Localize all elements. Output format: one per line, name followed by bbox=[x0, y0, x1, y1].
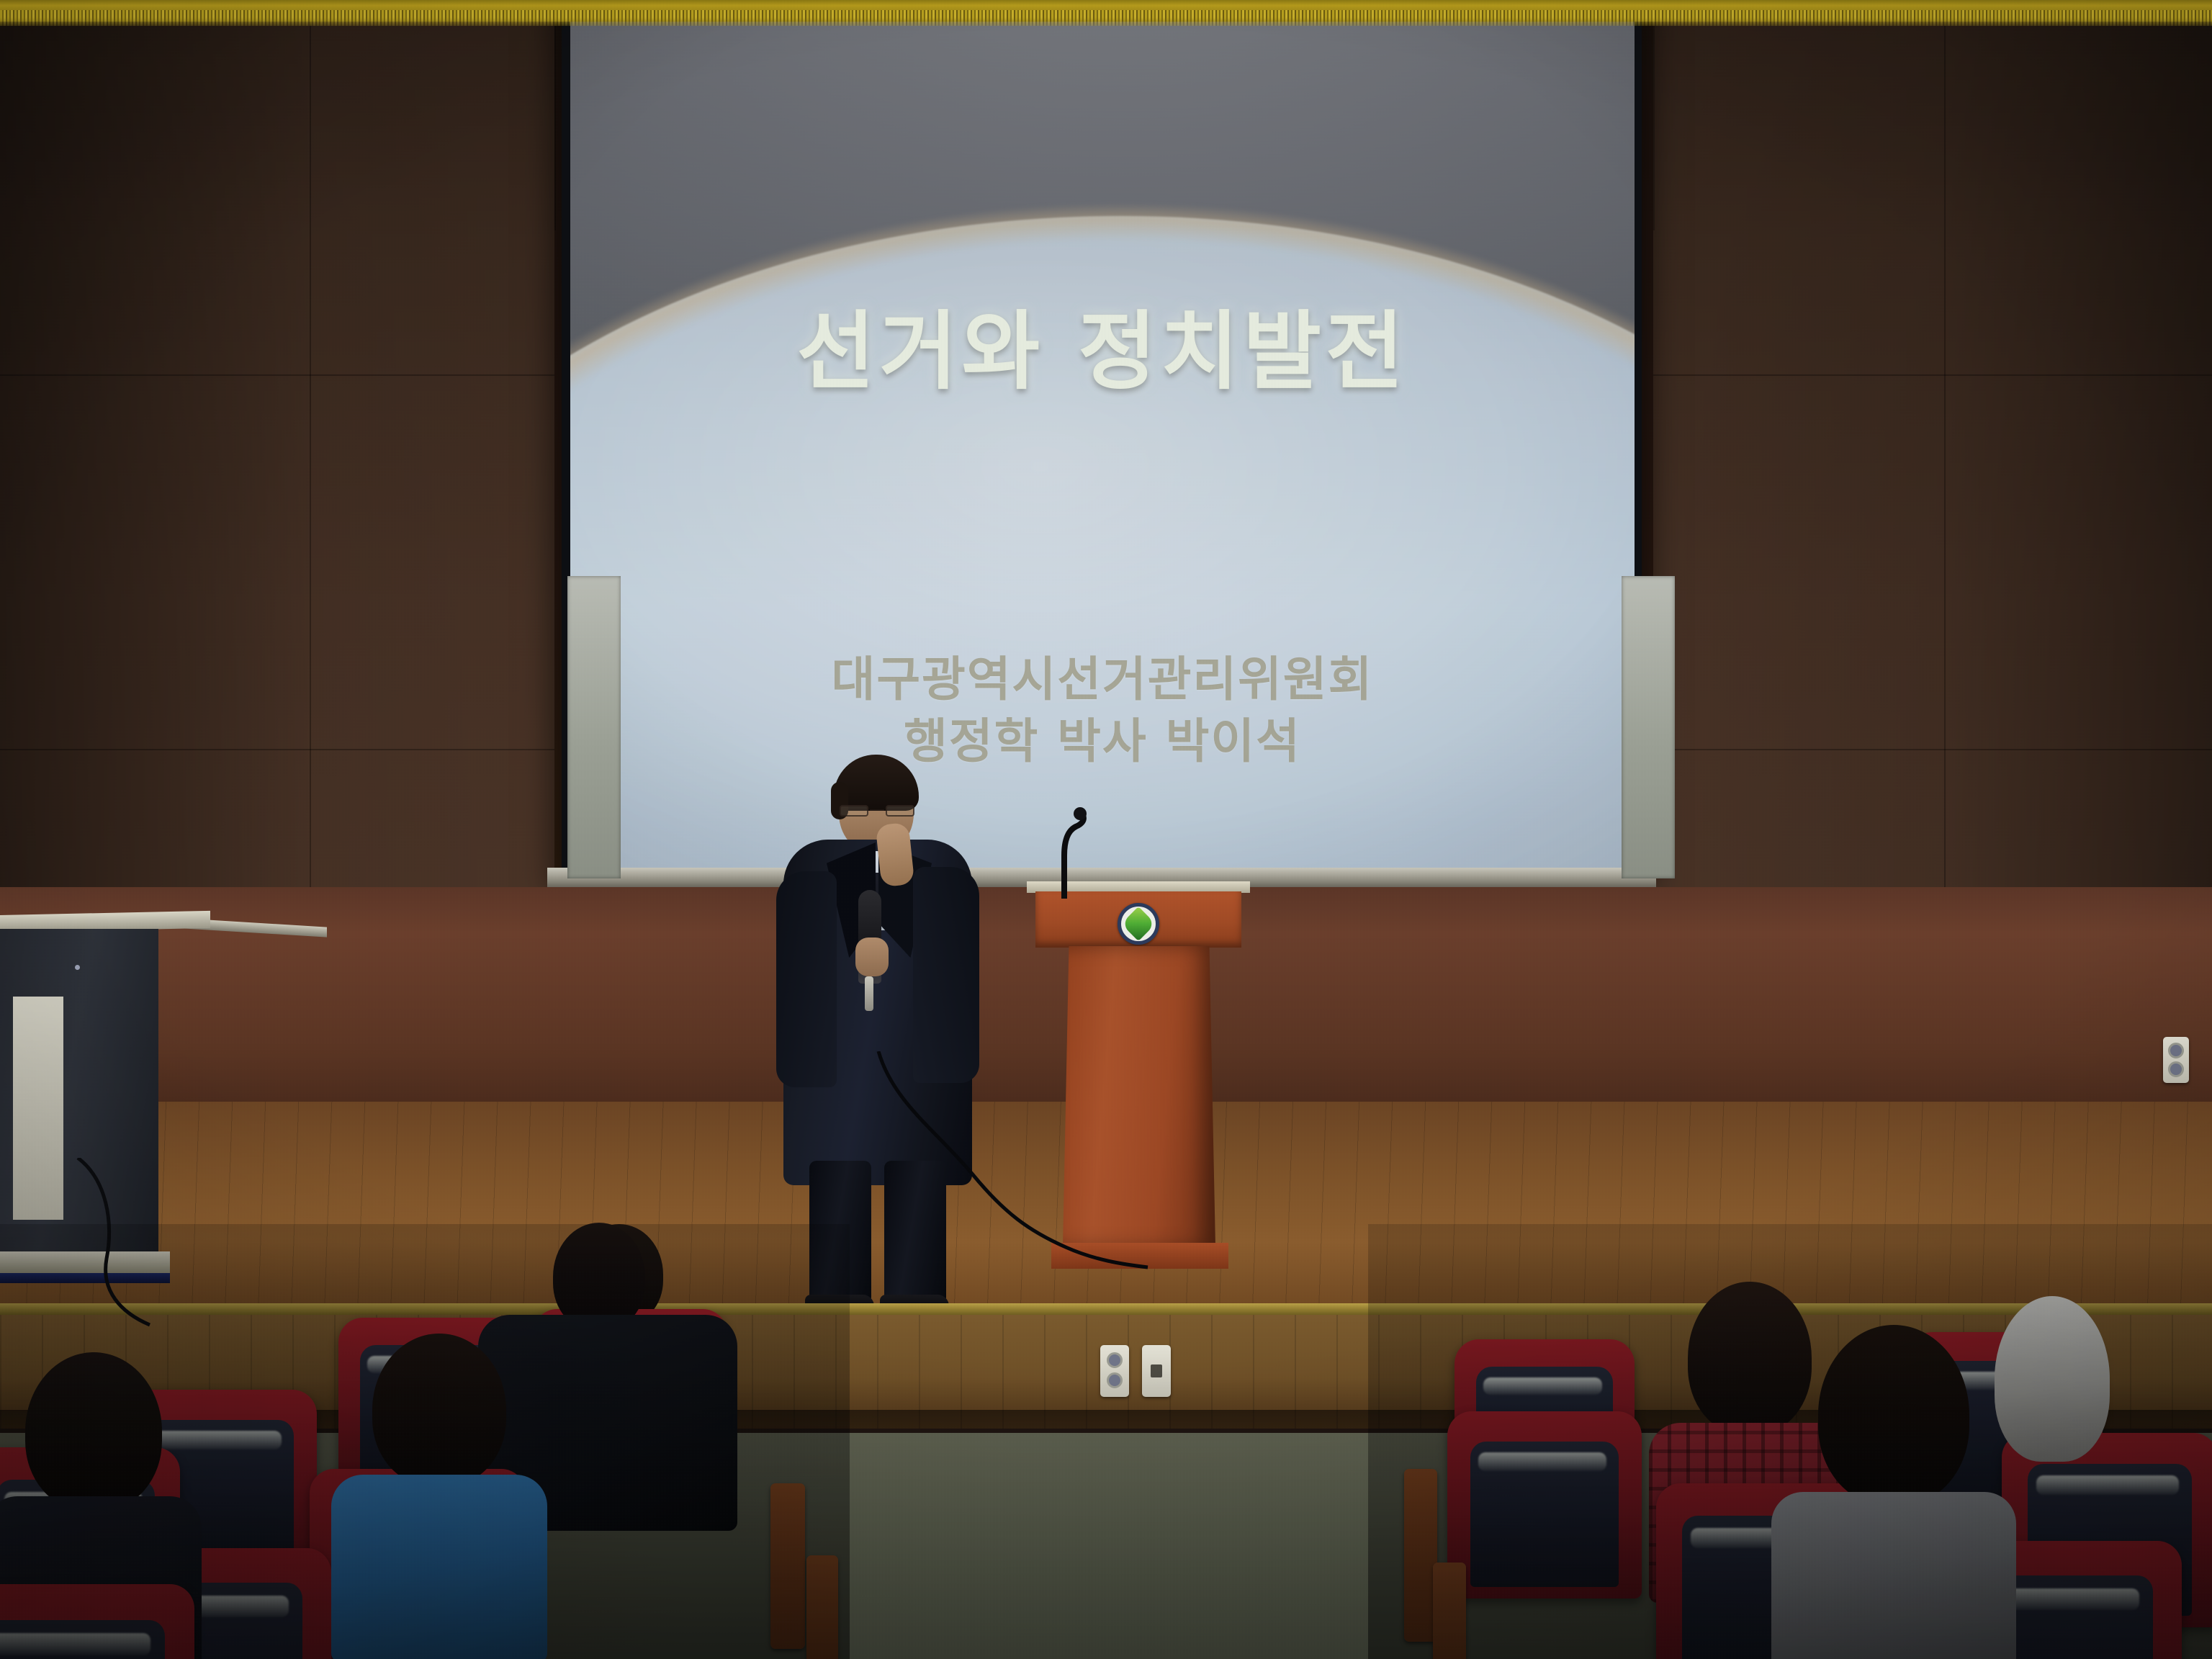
presenter-arm-right bbox=[913, 867, 979, 1083]
jack-port-icon bbox=[1151, 1364, 1162, 1377]
connector-jack-plate bbox=[1142, 1345, 1171, 1397]
presenter-hand-at-face bbox=[876, 822, 915, 887]
slide-vignette bbox=[570, 0, 1635, 868]
presenter bbox=[770, 749, 986, 1282]
seat-armrest bbox=[1433, 1563, 1466, 1659]
microphone-handle bbox=[865, 976, 873, 1011]
hood-up bbox=[1995, 1296, 2110, 1462]
audience-member bbox=[338, 1334, 540, 1636]
screen-side-panel-right bbox=[1622, 576, 1675, 878]
eyeglass-bridge bbox=[870, 809, 884, 811]
eyeglasses-icon bbox=[840, 805, 914, 817]
console-power-cable bbox=[63, 1158, 200, 1331]
outlet-socket-hole bbox=[2168, 1043, 2184, 1058]
green-leaf-seal-emblem-icon bbox=[1118, 903, 1159, 945]
console-front-panel bbox=[13, 997, 63, 1220]
podium-base bbox=[1051, 1243, 1228, 1269]
emblem-leaf-shape bbox=[1121, 907, 1156, 941]
dado-seam bbox=[554, 0, 556, 230]
outlet-socket-hole bbox=[1107, 1372, 1123, 1388]
seat-pad-gloss bbox=[1483, 1377, 1602, 1395]
presenter-arm-left bbox=[776, 871, 837, 1087]
eyeglass-lens-left bbox=[840, 805, 868, 817]
audience-torso bbox=[331, 1475, 547, 1659]
auditorium-photo: 선거와 정치발전 대구광역시선거관리위원회 행정학 박사 박이석 bbox=[0, 0, 2212, 1659]
podium-column bbox=[1063, 946, 1215, 1247]
audience-head bbox=[372, 1334, 506, 1486]
outlet-socket-hole bbox=[1107, 1352, 1123, 1368]
seat-pad-gloss bbox=[0, 1633, 150, 1655]
audience-head bbox=[1818, 1325, 1969, 1505]
audience-member bbox=[1779, 1325, 2009, 1659]
eyeglass-lens-right bbox=[886, 805, 914, 817]
outlet-socket-hole bbox=[2168, 1061, 2184, 1077]
console-indicator-led bbox=[75, 965, 80, 970]
gold-fringe-valance bbox=[0, 0, 2212, 22]
screen-side-panel-left bbox=[567, 576, 621, 878]
dado-seam bbox=[1653, 0, 1655, 230]
projection-screen: 선거와 정치발전 대구광역시선거관리위원회 행정학 박사 박이석 bbox=[570, 0, 1635, 868]
seat[interactable] bbox=[0, 1584, 194, 1659]
audience-head bbox=[25, 1352, 162, 1511]
presenter-legs bbox=[805, 1161, 953, 1321]
seat-armrest bbox=[770, 1483, 805, 1649]
seat-pad-gloss bbox=[1478, 1452, 1606, 1471]
podium-head-panel bbox=[1035, 891, 1241, 948]
duplex-power-outlet bbox=[1100, 1345, 1129, 1397]
presenter-leg-left bbox=[809, 1161, 871, 1302]
presenter-hair bbox=[834, 755, 919, 811]
av-control-console[interactable] bbox=[0, 913, 181, 1302]
side-wall-power-outlet bbox=[2163, 1037, 2189, 1083]
presenter-leg-right bbox=[884, 1161, 946, 1302]
seat[interactable] bbox=[1447, 1411, 1642, 1599]
podium[interactable] bbox=[1035, 891, 1241, 1280]
audience-torso bbox=[1771, 1492, 2016, 1659]
presenter-hand-holding-mic bbox=[855, 938, 889, 976]
seat-armrest bbox=[806, 1555, 838, 1659]
gooseneck-microphone-icon bbox=[1048, 805, 1099, 899]
